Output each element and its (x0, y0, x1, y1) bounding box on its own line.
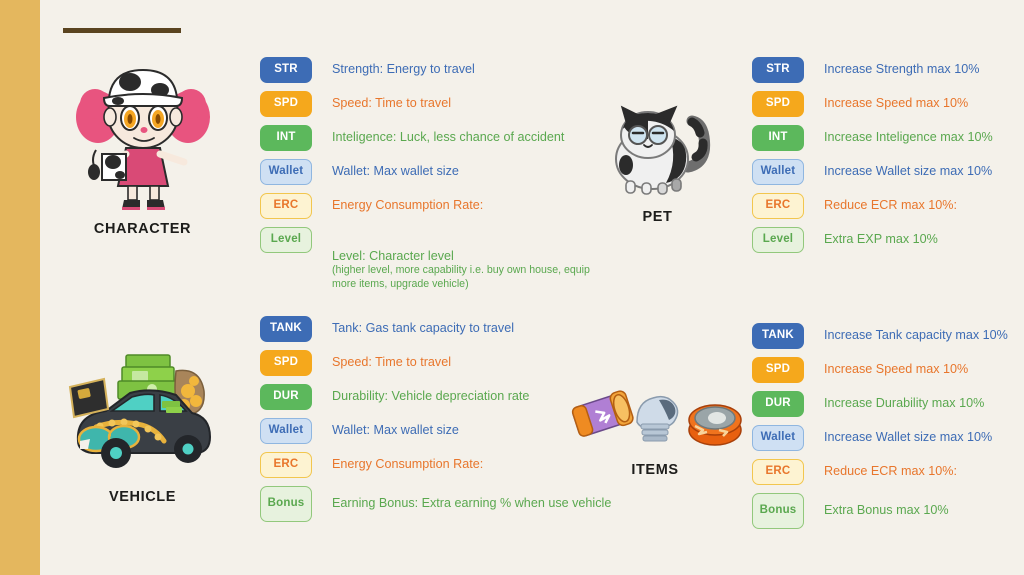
badge-level[interactable]: Level (752, 227, 804, 253)
stat-row-items-spd: SPD Increase Speed max 10% (752, 357, 1024, 383)
stat-desc-pet-spd: Increase Speed max 10% (824, 91, 968, 112)
badge-bonus[interactable]: Bonus (752, 493, 804, 529)
stat-desc-pet-str: Increase Strength max 10% (824, 57, 979, 78)
pet-label: PET (595, 209, 720, 225)
stat-row-character-spd: SPD Speed: Time to travel (260, 91, 590, 117)
character-girl-illustration (68, 62, 218, 217)
badge-bonus[interactable]: Bonus (260, 486, 312, 522)
badge-wallet[interactable]: Wallet (752, 159, 804, 185)
badge-erc[interactable]: ERC (752, 459, 804, 485)
badge-tank[interactable]: TANK (752, 323, 804, 349)
items-trio-illustration (565, 380, 745, 452)
badge-level[interactable]: Level (260, 227, 312, 253)
badge-spd[interactable]: SPD (752, 91, 804, 117)
pet-figure: PET (595, 105, 720, 225)
badge-wallet[interactable]: Wallet (260, 159, 312, 185)
badge-dur[interactable]: DUR (260, 384, 312, 410)
badge-wallet[interactable]: Wallet (752, 425, 804, 451)
stat-row-pet-spd: SPD Increase Speed max 10% (752, 91, 1024, 117)
stat-desc-wallet: Wallet: Max wallet size (332, 159, 459, 180)
stat-row-character-level: Level Level: Character level (higher lev… (260, 227, 590, 308)
stat-desc-vehicle-tank: Tank: Gas tank capacity to travel (332, 316, 514, 337)
badge-str[interactable]: STR (752, 57, 804, 83)
vehicle-label: VEHICLE (55, 489, 230, 505)
items-figure: ITEMS (560, 380, 750, 478)
stat-row-vehicle-tank: TANK Tank: Gas tank capacity to travel (260, 316, 620, 342)
stat-desc-vehicle-bonus: Earning Bonus: Extra earning % when use … (332, 486, 611, 512)
stat-row-vehicle-bonus: Bonus Earning Bonus: Extra earning % whe… (260, 486, 620, 522)
stat-row-character-erc: ERC Energy Consumption Rate: (260, 193, 590, 219)
badge-int[interactable]: INT (260, 125, 312, 151)
stat-row-items-wallet: Wallet Increase Wallet size max 10% (752, 425, 1024, 451)
stat-desc-vehicle-erc: Energy Consumption Rate: (332, 452, 483, 473)
stat-desc-vehicle-dur: Durability: Vehicle depreciation rate (332, 384, 529, 405)
stat-row-items-tank: TANK Increase Tank capacity max 10% (752, 323, 1024, 349)
badge-spd[interactable]: SPD (752, 357, 804, 383)
stat-desc-items-erc: Reduce ECR max 10%: (824, 459, 957, 480)
stat-desc-spd: Speed: Time to travel (332, 91, 451, 112)
stat-desc-erc: Energy Consumption Rate: (332, 193, 483, 214)
badge-str[interactable]: STR (260, 57, 312, 83)
stat-row-character-wallet: Wallet Wallet: Max wallet size (260, 159, 590, 185)
stat-row-items-erc: ERC Reduce ECR max 10%: (752, 459, 1024, 485)
stat-desc-vehicle-spd: Speed: Time to travel (332, 350, 451, 371)
badge-int[interactable]: INT (752, 125, 804, 151)
badge-erc[interactable]: ERC (752, 193, 804, 219)
badge-wallet[interactable]: Wallet (260, 418, 312, 444)
stat-row-items-dur: DUR Increase Durability max 10% (752, 391, 1024, 417)
stat-desc-items-bonus: Extra Bonus max 10% (824, 493, 949, 519)
stat-desc-items-wallet: Increase Wallet size max 10% (824, 425, 992, 446)
stat-row-pet-str: STR Increase Strength max 10% (752, 57, 1024, 83)
pet-cat-illustration (600, 105, 715, 205)
stat-row-character-str: STR Strength: Energy to travel (260, 57, 590, 83)
items-label: ITEMS (560, 462, 750, 478)
stat-row-character-int: INT Inteligence: Luck, less chance of ac… (260, 125, 590, 151)
stat-desc-level-main: Level: Character level (332, 249, 454, 263)
character-figure: CHARACTER (55, 62, 230, 237)
stat-desc-items-dur: Increase Durability max 10% (824, 391, 984, 412)
stat-row-pet-wallet: Wallet Increase Wallet size max 10% (752, 159, 1024, 185)
pet-stats-panel: STR Increase Strength max 10% SPD Increa… (752, 57, 1024, 261)
items-stats-panel: TANK Increase Tank capacity max 10% SPD … (752, 323, 1024, 537)
badge-spd[interactable]: SPD (260, 350, 312, 376)
stat-row-pet-int: INT Increase Inteligence max 10% (752, 125, 1024, 151)
character-label: CHARACTER (55, 221, 230, 237)
badge-dur[interactable]: DUR (752, 391, 804, 417)
stat-desc-level: Level: Character level (higher level, mo… (332, 227, 590, 308)
stat-row-pet-level: Level Extra EXP max 10% (752, 227, 1024, 253)
stat-desc-pet-level: Extra EXP max 10% (824, 227, 938, 248)
title-divider-rule (63, 28, 181, 33)
badge-erc[interactable]: ERC (260, 452, 312, 478)
stat-desc-level-sub: (higher level, more capability i.e. buy … (332, 264, 590, 292)
stat-desc-str: Strength: Energy to travel (332, 57, 475, 78)
stat-desc-pet-erc: Reduce ECR max 10%: (824, 193, 957, 214)
stat-row-pet-erc: ERC Reduce ECR max 10%: (752, 193, 1024, 219)
stat-desc-pet-wallet: Increase Wallet size max 10% (824, 159, 992, 180)
stat-desc-items-tank: Increase Tank capacity max 10% (824, 323, 1008, 344)
vehicle-figure: VEHICLE (55, 345, 230, 505)
stat-row-items-bonus: Bonus Extra Bonus max 10% (752, 493, 1024, 529)
left-accent-strip (0, 0, 40, 575)
stat-desc-items-spd: Increase Speed max 10% (824, 357, 968, 378)
stat-desc-int: Inteligence: Luck, less chance of accide… (332, 125, 564, 146)
stat-desc-vehicle-wallet: Wallet: Max wallet size (332, 418, 459, 439)
slide-canvas: CHARACTER STR Strength: Energy to travel… (0, 0, 1024, 575)
stat-desc-pet-int: Increase Inteligence max 10% (824, 125, 993, 146)
badge-spd[interactable]: SPD (260, 91, 312, 117)
stat-row-vehicle-spd: SPD Speed: Time to travel (260, 350, 620, 376)
character-stats-panel: STR Strength: Energy to travel SPD Speed… (260, 57, 590, 316)
badge-erc[interactable]: ERC (260, 193, 312, 219)
badge-tank[interactable]: TANK (260, 316, 312, 342)
vehicle-car-illustration (60, 345, 225, 485)
